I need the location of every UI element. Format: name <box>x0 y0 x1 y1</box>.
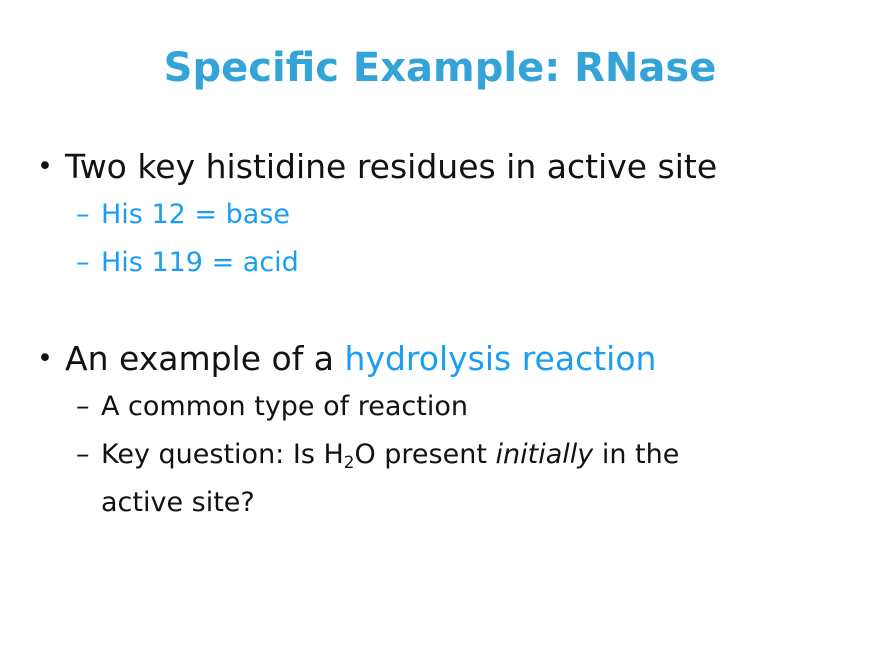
page-title: Specific Example: RNase <box>0 44 880 92</box>
dash-icon: – <box>76 383 90 431</box>
bullet-dot-icon: • <box>37 335 53 383</box>
bullet-label-italic: initially <box>496 439 594 470</box>
blank-line-spacer <box>30 287 860 335</box>
bullet-label: His 12 = base <box>101 199 290 230</box>
slide-body: • Two key histidine residues in active s… <box>30 143 860 527</box>
bullet-dot-icon: • <box>37 143 53 191</box>
bullet-label: Two key histidine residues in active sit… <box>65 147 717 186</box>
bullet-item-two-key-histidine: • Two key histidine residues in active s… <box>30 143 860 191</box>
slide-canvas: Specific Example: RNase • Two key histid… <box>0 0 880 660</box>
bullet-item-an-example-of-a: •An example of a hydrolysis reaction <box>30 335 860 383</box>
bullet-item-his-119: – His 119 = acid <box>30 239 860 287</box>
bullet-item-a-common-type: – A common type of reaction <box>30 383 860 431</box>
bullet-label: A common type of reaction <box>101 391 468 422</box>
bullet-item-his-12: – His 12 = base <box>30 191 860 239</box>
bullet-label-part3: in the <box>593 439 679 470</box>
bullet-label: An example of a <box>65 339 345 378</box>
bullet-label-accent: hydrolysis reaction <box>345 339 657 378</box>
bullet-label: His 119 = acid <box>101 247 299 278</box>
bullet-item-key-question: –Key question: Is H2O present initially … <box>30 431 860 479</box>
dash-icon: – <box>76 191 90 239</box>
dash-icon: – <box>76 431 90 479</box>
subscript-two: 2 <box>344 452 355 472</box>
dash-icon: – <box>76 239 90 287</box>
bullet-label-part2: O present <box>354 439 495 470</box>
bullet-label-part1: Key question: Is H <box>101 439 344 470</box>
bullet-item-key-question-wrap: active site? <box>30 479 860 527</box>
